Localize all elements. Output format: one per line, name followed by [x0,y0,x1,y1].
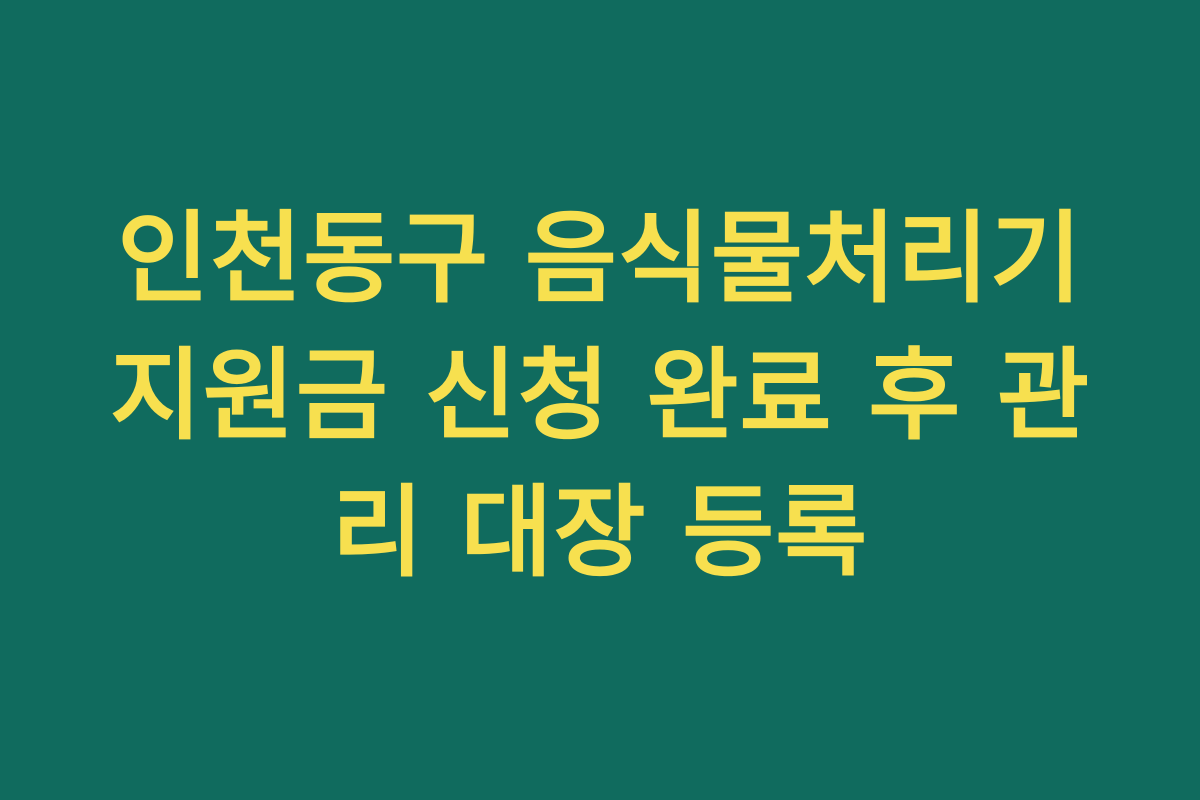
banner-title-line-2: 지원금 신청 완료 후 관 [105,327,1095,464]
banner-title: 인천동구 음식물처리기 지원금 신청 완료 후 관 리 대장 등록 [105,190,1095,601]
banner-title-line-3: 리 대장 등록 [105,464,1095,601]
banner-title-line-1: 인천동구 음식물처리기 [105,190,1095,327]
title-banner: 인천동구 음식물처리기 지원금 신청 완료 후 관 리 대장 등록 [0,0,1200,800]
